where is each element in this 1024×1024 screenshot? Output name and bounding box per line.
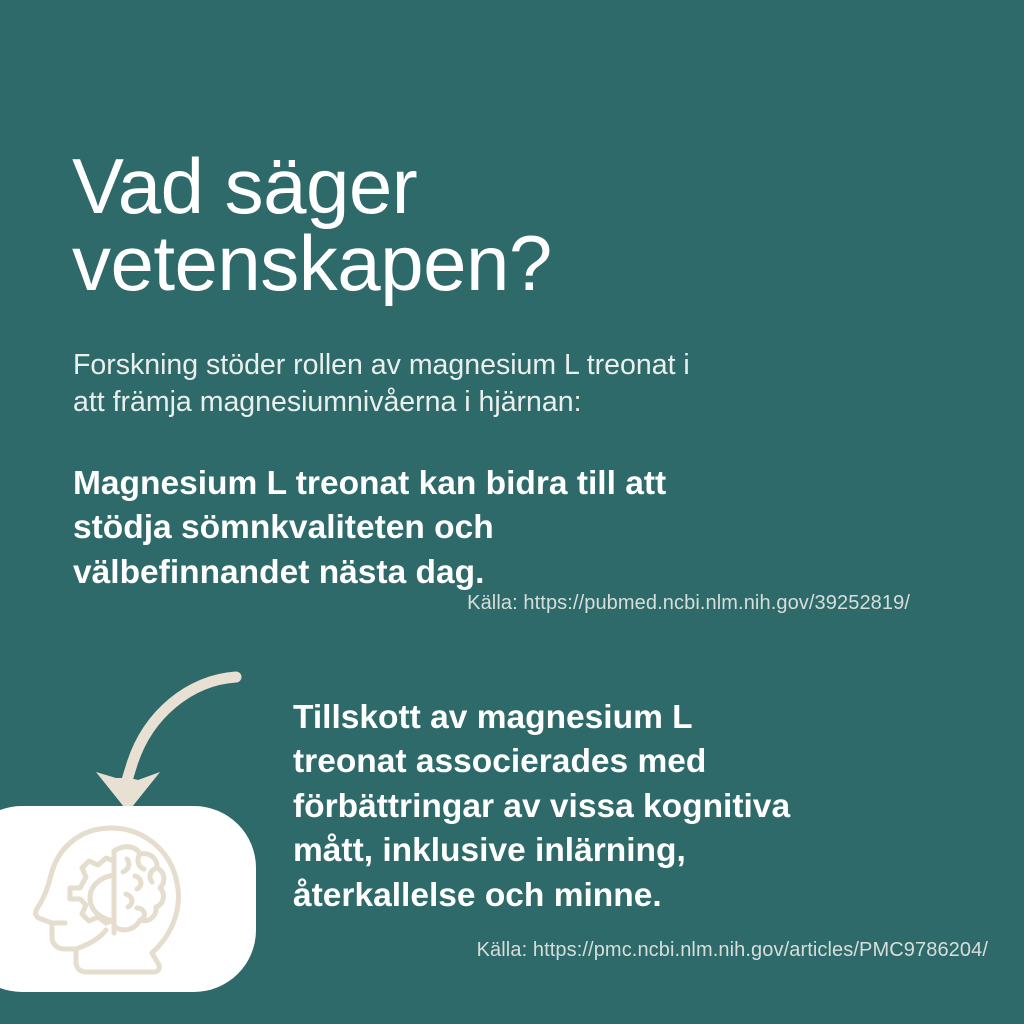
curved-down-left-arrow-icon — [86, 660, 266, 820]
source-citation-1: Källa: https://pubmed.ncbi.nlm.nih.gov/3… — [300, 591, 910, 615]
source-citation-2: Källa: https://pmc.ncbi.nlm.nih.gov/arti… — [300, 938, 988, 962]
icon-card — [0, 806, 256, 992]
poster-canvas: Vad säger vetenskapen? Forskning stöder … — [0, 0, 1024, 1024]
head-with-gear-and-brain-icon — [32, 820, 192, 978]
claim-statement-1: Magnesium L treonat kan bidra till att s… — [73, 462, 963, 596]
intro-paragraph: Forskning stöder rollen av magnesium L t… — [73, 347, 953, 423]
claim-statement-2: Tillskott av magnesium L treonat associe… — [293, 696, 983, 919]
page-title: Vad säger vetenskapen? — [72, 148, 832, 302]
